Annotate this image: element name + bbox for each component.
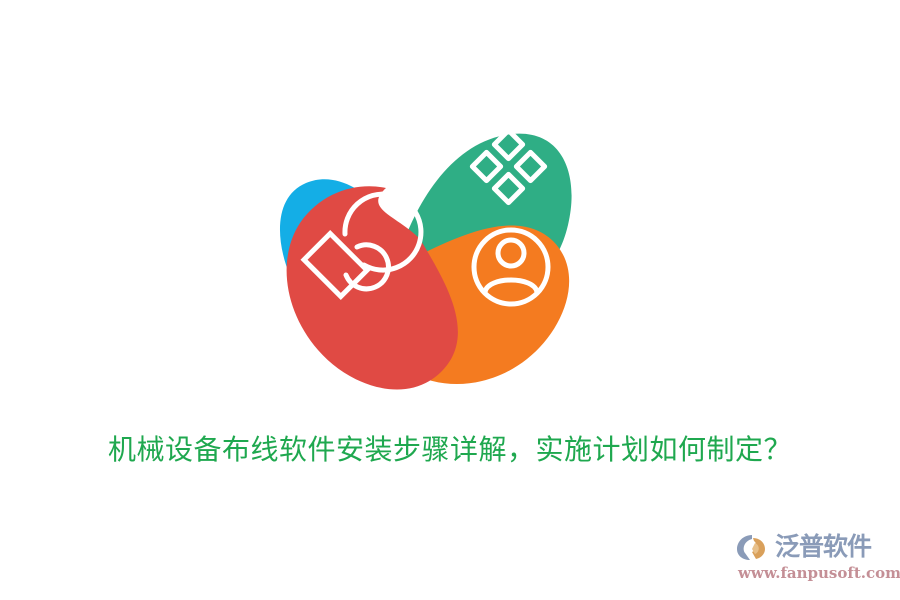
watermark-brand-row: 泛普软件 xyxy=(736,528,886,566)
watermark: 泛普软件 www.fanpusoft.com xyxy=(736,528,886,590)
emblem-svg xyxy=(250,78,580,408)
four-petal-pinwheel-logo xyxy=(250,78,580,408)
fanpu-logo-icon xyxy=(736,532,772,562)
logo-wedge xyxy=(737,535,752,560)
watermark-brand-text: 泛普软件 xyxy=(775,532,871,562)
watermark-url: www.fanpusoft.com xyxy=(736,564,886,582)
page-title: 机械设备布线软件安装步骤详解，实施计划如何制定？ xyxy=(0,428,900,472)
page-root: 机械设备布线软件安装步骤详解，实施计划如何制定？ 泛普软件 www.fanpus… xyxy=(0,0,900,600)
